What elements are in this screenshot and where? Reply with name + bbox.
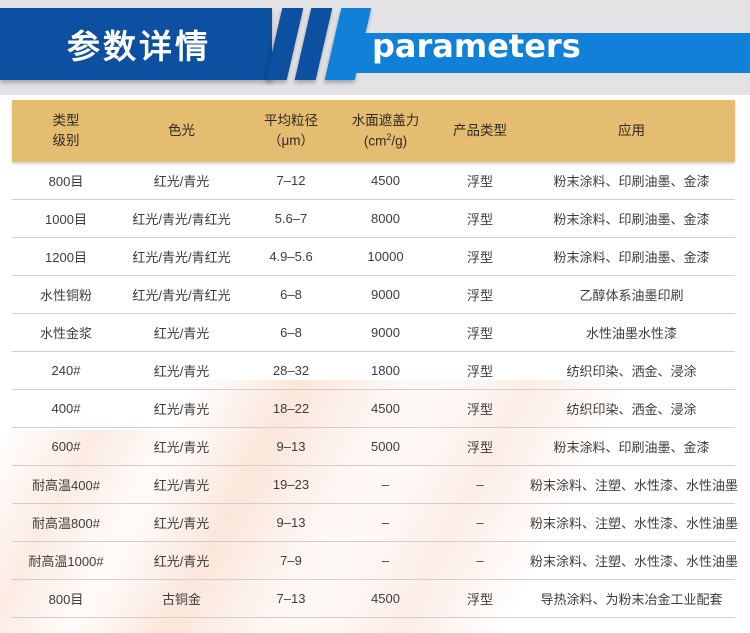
cell-water-coverage: 4500 [339, 580, 432, 618]
spec-table-header-row: 类型 级别 色光 平均粒径 （μm） 水面遮盖力 (cm2/g) [12, 100, 735, 162]
cell-application: 纺织印染、洒金、浸涂 [528, 352, 735, 390]
cell-color: 红光/青光 [120, 428, 243, 466]
table-row: 水性金浆红光/青光6–89000浮型水性油墨水性漆 [12, 314, 735, 352]
col-header-application-line1: 应用 [530, 121, 733, 141]
cell-particle-size: 7–12 [243, 162, 339, 200]
cell-product-type: 浮型 [432, 276, 528, 314]
cell-product-type: 浮型 [432, 238, 528, 276]
col-header-water-coverage: 水面遮盖力 (cm2/g) [339, 100, 432, 162]
table-row: 耐高温400#红光/青光19–23––粉末涂料、注塑、水性漆、水性油墨 [12, 466, 735, 504]
cell-application: 粉末涂料、印刷油墨、金漆 [528, 428, 735, 466]
cell-type: 耐高温800# [12, 504, 120, 542]
cell-water-coverage: 9000 [339, 276, 432, 314]
table-row: 800目红光/青光7–124500浮型粉末涂料、印刷油墨、金漆 [12, 162, 735, 200]
cell-color: 古铜金 [120, 580, 243, 618]
unit-base: (cm [364, 133, 387, 148]
cell-particle-size: 6–8 [243, 314, 339, 352]
cell-water-coverage: – [339, 466, 432, 504]
cell-particle-size: 9–13 [243, 428, 339, 466]
cell-type: 耐高温400# [12, 466, 120, 504]
cell-color: 红光/青光 [120, 466, 243, 504]
cell-product-type: – [432, 504, 528, 542]
table-row: 240#红光/青光28–321800浮型纺织印染、洒金、浸涂 [12, 352, 735, 390]
col-header-product-type-line1: 产品类型 [434, 121, 526, 141]
col-header-particle-size: 平均粒径 （μm） [243, 100, 339, 162]
cell-type: 600# [12, 428, 120, 466]
cell-product-type: 浮型 [432, 390, 528, 428]
spec-table-body: 800目红光/青光7–124500浮型粉末涂料、印刷油墨、金漆1000目红光/青… [12, 162, 735, 618]
cell-water-coverage: 10000 [339, 238, 432, 276]
cell-type: 耐高温1000# [12, 542, 120, 580]
spec-table: 类型 级别 色光 平均粒径 （μm） 水面遮盖力 (cm2/g) [12, 100, 735, 618]
cell-color: 红光/青光 [120, 352, 243, 390]
cell-application: 粉末涂料、印刷油墨、金漆 [528, 200, 735, 238]
cell-type: 800目 [12, 580, 120, 618]
cell-application: 水性油墨水性漆 [528, 314, 735, 352]
cell-application: 粉末涂料、注塑、水性漆、水性油墨 [528, 504, 735, 542]
unit-tail: /g) [391, 133, 407, 148]
col-header-type-line1: 类型 [14, 111, 118, 131]
cell-water-coverage: 9000 [339, 314, 432, 352]
col-header-water-coverage-line1: 水面遮盖力 [341, 111, 430, 131]
cell-water-coverage: 8000 [339, 200, 432, 238]
col-header-product-type: 产品类型 [432, 100, 528, 162]
cell-color: 红光/青光/青红光 [120, 200, 243, 238]
cell-water-coverage: – [339, 504, 432, 542]
cell-particle-size: 4.9–5.6 [243, 238, 339, 276]
cell-water-coverage: 4500 [339, 162, 432, 200]
cell-type: 1200目 [12, 238, 120, 276]
spec-table-head: 类型 级别 色光 平均粒径 （μm） 水面遮盖力 (cm2/g) [12, 100, 735, 162]
cell-color: 红光/青光/青红光 [120, 276, 243, 314]
cell-product-type: 浮型 [432, 580, 528, 618]
cell-water-coverage: 5000 [339, 428, 432, 466]
cell-type: 水性金浆 [12, 314, 120, 352]
cell-type: 240# [12, 352, 120, 390]
cell-particle-size: 7–9 [243, 542, 339, 580]
cell-color: 红光/青光/青红光 [120, 238, 243, 276]
cell-application: 纺织印染、洒金、浸涂 [528, 390, 735, 428]
col-header-particle-size-line1: 平均粒径 [245, 111, 337, 131]
table-row: 800目古铜金7–134500浮型导热涂料、为粉末冶金工业配套 [12, 580, 735, 618]
cell-type: 水性铜粉 [12, 276, 120, 314]
cell-product-type: 浮型 [432, 428, 528, 466]
cell-color: 红光/青光 [120, 390, 243, 428]
banner-title-en: parameters [372, 16, 581, 76]
table-row: 1000目红光/青光/青红光5.6–78000浮型粉末涂料、印刷油墨、金漆 [12, 200, 735, 238]
cell-particle-size: 9–13 [243, 504, 339, 542]
table-row: 耐高温1000#红光/青光7–9––粉末涂料、注塑、水性漆、水性油墨 [12, 542, 735, 580]
table-row: 400#红光/青光18–224500浮型纺织印染、洒金、浸涂 [12, 390, 735, 428]
cell-application: 导热涂料、为粉末冶金工业配套 [528, 580, 735, 618]
cell-product-type: 浮型 [432, 162, 528, 200]
cell-product-type: 浮型 [432, 314, 528, 352]
cell-product-type: 浮型 [432, 200, 528, 238]
cell-color: 红光/青光 [120, 162, 243, 200]
col-header-type-line2: 级别 [14, 131, 118, 151]
cell-color: 红光/青光 [120, 314, 243, 352]
header-banner: 参数详情 parameters [0, 0, 750, 95]
cell-particle-size: 6–8 [243, 276, 339, 314]
cell-application: 粉末涂料、注塑、水性漆、水性油墨 [528, 466, 735, 504]
col-header-color-line1: 色光 [122, 121, 241, 141]
cell-particle-size: 19–23 [243, 466, 339, 504]
cell-color: 红光/青光 [120, 504, 243, 542]
cell-application: 粉末涂料、印刷油墨、金漆 [528, 238, 735, 276]
cell-water-coverage: 1800 [339, 352, 432, 390]
cell-type: 800目 [12, 162, 120, 200]
cell-color: 红光/青光 [120, 542, 243, 580]
cell-product-type: – [432, 542, 528, 580]
cell-product-type: 浮型 [432, 352, 528, 390]
cell-particle-size: 28–32 [243, 352, 339, 390]
table-row: 耐高温800#红光/青光9–13––粉末涂料、注塑、水性漆、水性油墨 [12, 504, 735, 542]
cell-application: 乙醇体系油墨印刷 [528, 276, 735, 314]
spec-table-wrapper: 类型 级别 色光 平均粒径 （μm） 水面遮盖力 (cm2/g) [12, 100, 735, 618]
cell-particle-size: 7–13 [243, 580, 339, 618]
cell-type: 400# [12, 390, 120, 428]
table-row: 600#红光/青光9–135000浮型粉末涂料、印刷油墨、金漆 [12, 428, 735, 466]
col-header-type: 类型 级别 [12, 100, 120, 162]
cell-water-coverage: – [339, 542, 432, 580]
cell-application: 粉末涂料、印刷油墨、金漆 [528, 162, 735, 200]
cell-application: 粉末涂料、注塑、水性漆、水性油墨 [528, 542, 735, 580]
cell-particle-size: 5.6–7 [243, 200, 339, 238]
cell-type: 1000目 [12, 200, 120, 238]
col-header-application: 应用 [528, 100, 735, 162]
cell-product-type: – [432, 466, 528, 504]
banner-title-cn: 参数详情 [0, 8, 272, 80]
page-root: 参数详情 parameters 类型 级别 色光 平均粒径 [0, 0, 750, 633]
table-row: 水性铜粉红光/青光/青红光6–89000浮型乙醇体系油墨印刷 [12, 276, 735, 314]
col-header-particle-size-line2: （μm） [245, 131, 337, 151]
cell-particle-size: 18–22 [243, 390, 339, 428]
col-header-color: 色光 [120, 100, 243, 162]
cell-water-coverage: 4500 [339, 390, 432, 428]
col-header-water-coverage-line2: (cm2/g) [341, 131, 430, 151]
table-row: 1200目红光/青光/青红光4.9–5.610000浮型粉末涂料、印刷油墨、金漆 [12, 238, 735, 276]
